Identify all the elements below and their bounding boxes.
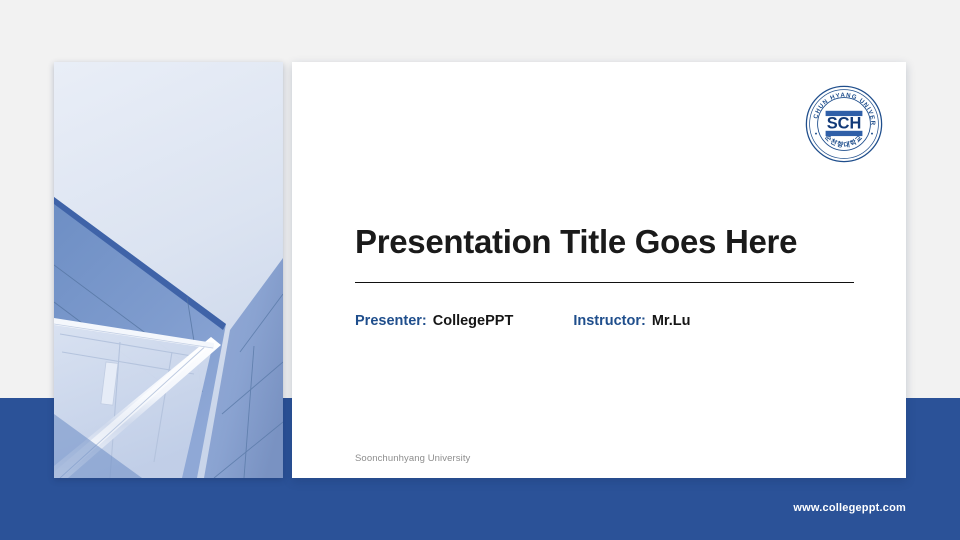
instructor-value: Mr.Lu [652,313,691,329]
meta-row: Presenter: CollegePPT Instructor: Mr.Lu [355,313,690,329]
card-footer-org: Soonchunhyang University [355,453,470,464]
title-block: Presentation Title Goes Here [355,224,855,283]
instructor-label: Instructor: [573,313,646,329]
title-divider [355,282,854,283]
soonchunhyang-university-seal-icon: SOON CHUN HYANG UNIVERSITY 순천향대학교 SCH [804,84,884,164]
slide-root: SOON CHUN HYANG UNIVERSITY 순천향대학교 SCH Pr… [0,0,960,540]
content-card: SOON CHUN HYANG UNIVERSITY 순천향대학교 SCH Pr… [292,62,906,478]
architecture-photo-panel [54,62,283,478]
presenter-value: CollegePPT [433,313,514,329]
meta-presenter: Presenter: CollegePPT [355,313,513,329]
presenter-label: Presenter: [355,313,427,329]
svg-text:SCH: SCH [827,114,862,132]
meta-instructor: Instructor: Mr.Lu [573,313,690,329]
page-title: Presentation Title Goes Here [355,224,855,261]
architecture-photo [54,62,283,478]
site-url: www.collegeppt.com [793,502,906,514]
